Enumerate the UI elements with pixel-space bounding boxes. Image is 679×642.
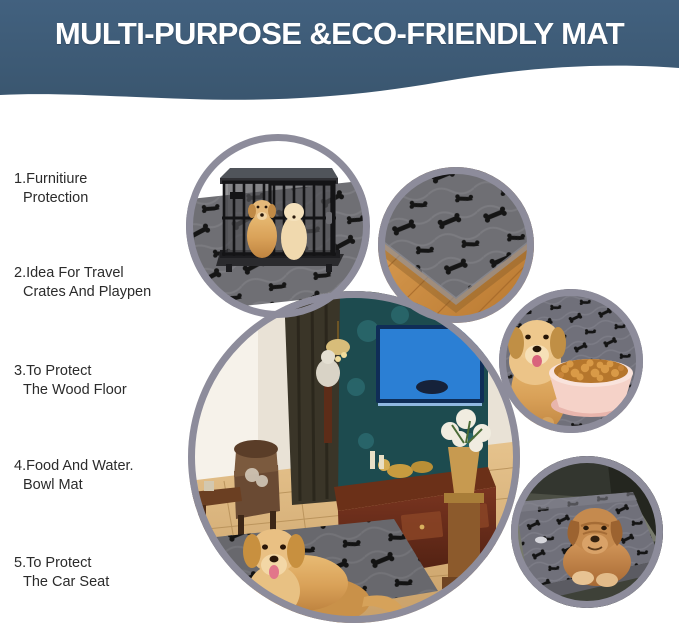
feature-item-2-line1: 2.Idea For Travel bbox=[14, 264, 151, 283]
feature-item-4: 4.Food And Water. Bowl Mat bbox=[14, 457, 134, 495]
feature-item-1: 1.Furnitiure Protection bbox=[14, 170, 88, 208]
feature-item-3: 3.To Protect The Wood Floor bbox=[14, 362, 127, 400]
feature-item-4-line2: Bowl Mat bbox=[14, 476, 134, 495]
circle-car-seat bbox=[511, 456, 663, 608]
feature-item-5-line1: 5.To Protect bbox=[14, 554, 109, 573]
feature-item-1-line1: 1.Furnitiure bbox=[14, 170, 88, 189]
feature-item-5: 5.To Protect The Car Seat bbox=[14, 554, 109, 592]
infographic-page: MULTI-PURPOSE &ECO-FRIENDLY MAT 1.Furnit… bbox=[0, 0, 679, 642]
page-title: MULTI-PURPOSE &ECO-FRIENDLY MAT bbox=[0, 16, 679, 52]
feature-item-4-line1: 4.Food And Water. bbox=[14, 457, 134, 476]
feature-item-5-line2: The Car Seat bbox=[14, 573, 109, 592]
feature-item-2-line2: Crates And Playpen bbox=[14, 283, 151, 302]
feature-item-3-line2: The Wood Floor bbox=[14, 381, 127, 400]
food-bowl-photo bbox=[499, 289, 643, 433]
circle-food-bowl bbox=[499, 289, 643, 433]
feature-item-3-line1: 3.To Protect bbox=[14, 362, 127, 381]
living-room-photo bbox=[188, 291, 520, 623]
photo-collage bbox=[0, 0, 679, 642]
feature-item-1-line2: Protection bbox=[14, 189, 88, 208]
circle-living-room bbox=[188, 291, 520, 623]
feature-item-2: 2.Idea For Travel Crates And Playpen bbox=[14, 264, 151, 302]
car-seat-photo bbox=[511, 456, 663, 608]
